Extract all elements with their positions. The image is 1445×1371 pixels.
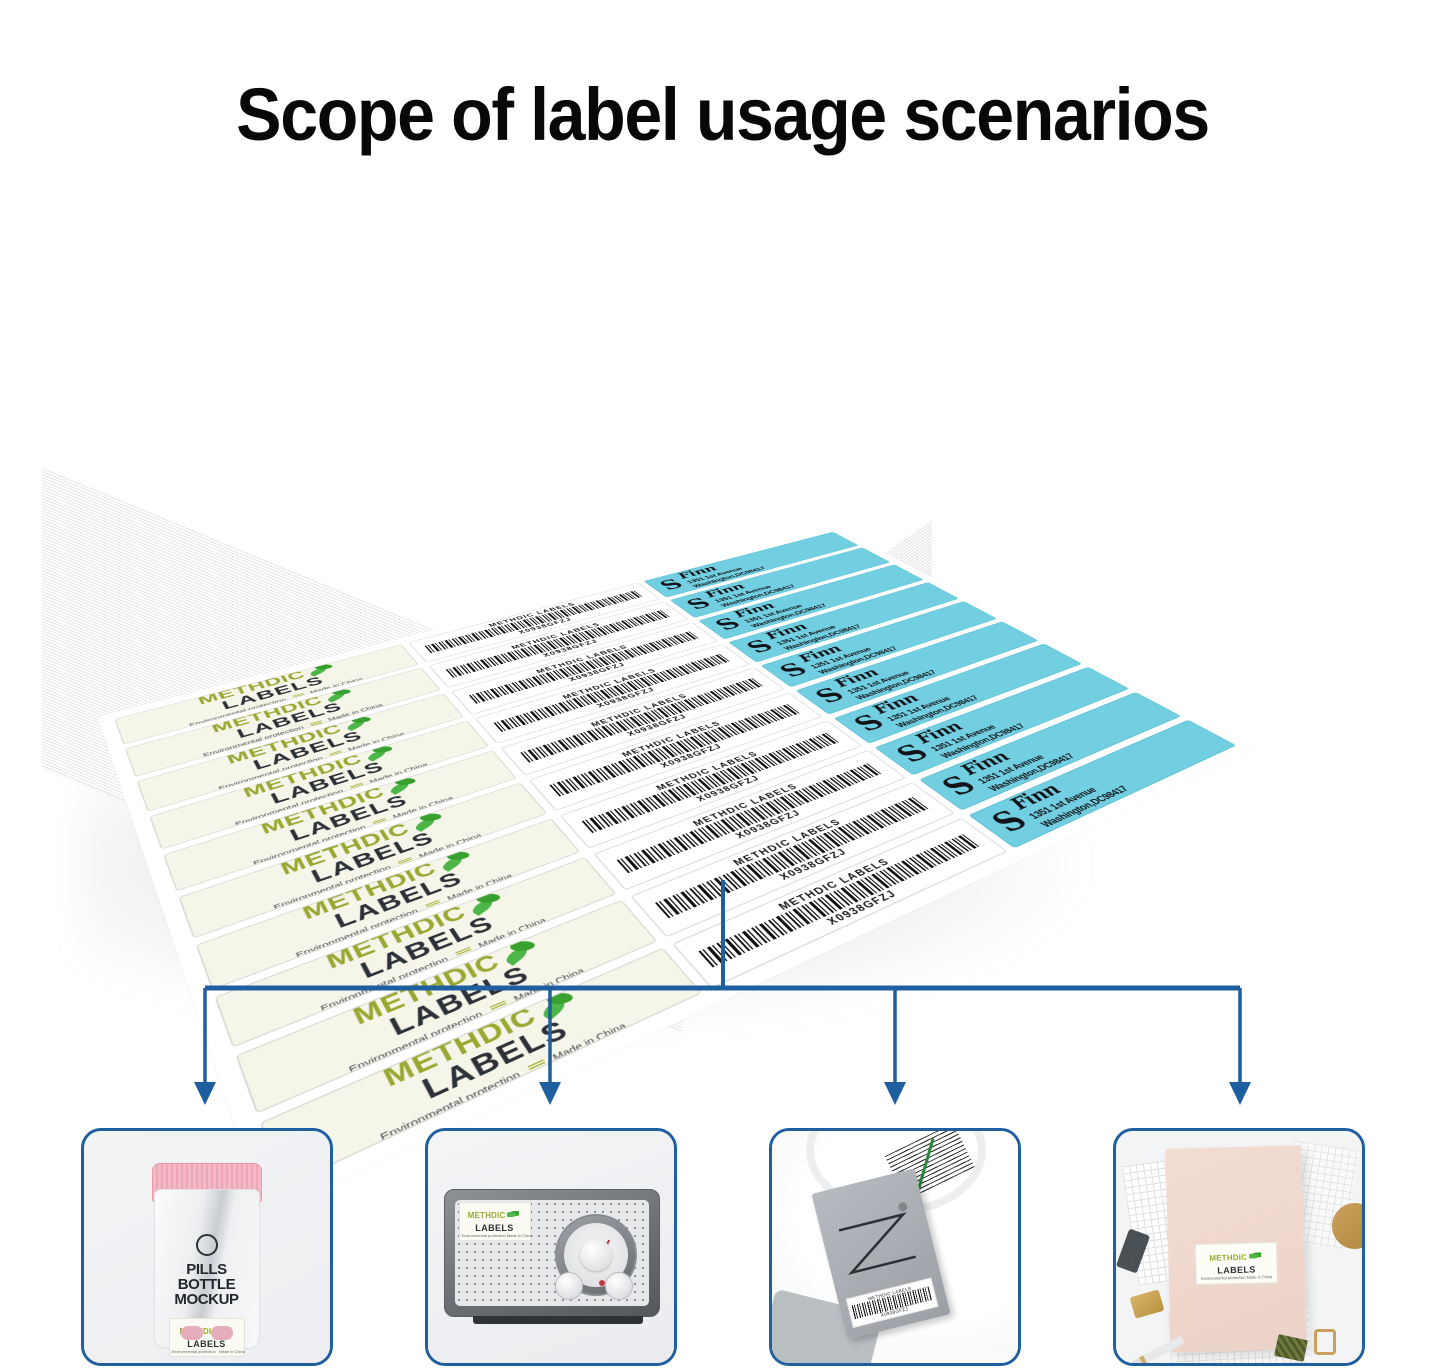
pills-inside — [164, 1326, 250, 1342]
radio-power-led-icon — [599, 1280, 605, 1286]
arrowhead-2 — [539, 1082, 561, 1105]
bottle-text-line3: MOCKUP — [174, 1292, 238, 1307]
sticker-brand-primary: METHDIC — [468, 1211, 506, 1220]
bottle-mockup-text: PILLS BOTTLE MOCKUP — [174, 1262, 238, 1307]
notebook-methdic-sticker: METHDIC LABELS Environmental protection … — [1194, 1242, 1277, 1285]
vintage-radio-image: METHDIC LABELS Environmental protection … — [428, 1131, 674, 1363]
page-title: Scope of label usage scenarios — [58, 72, 1387, 157]
radio-knob-tone[interactable] — [605, 1272, 633, 1300]
radio-dial-knob[interactable] — [580, 1239, 612, 1271]
connector-arrowheads — [194, 1082, 1251, 1105]
sticker-tagline-right: Made in China — [219, 1349, 245, 1354]
notebook-cover: METHDIC LABELS Environmental protection … — [1165, 1145, 1306, 1352]
sticker-tagline-right: Made in China — [1246, 1274, 1272, 1280]
notebook-image: METHDIC LABELS Environmental protection … — [1116, 1131, 1362, 1363]
eco-separator-icon — [329, 750, 343, 756]
pencil-sharpener-icon — [1129, 1289, 1164, 1318]
bottle-logo-mark-icon — [196, 1234, 218, 1256]
eco-separator-icon — [292, 693, 305, 698]
connector-svg — [0, 860, 1445, 1130]
arrowhead-4 — [1229, 1082, 1251, 1105]
scenario-boxes: PILLS BOTTLE MOCKUP METHDIC LABELS Envir… — [0, 1128, 1445, 1368]
clothing-hang-tag-image: METHDIC LABELS X0938GFZJ — [772, 1131, 1018, 1363]
leaf-icon — [507, 1211, 519, 1217]
sticker-brand-secondary: LABELS — [462, 1223, 528, 1233]
bottle-text-line1: PILLS — [174, 1262, 238, 1277]
scenario-box-notebook[interactable]: METHDIC LABELS Environmental protection … — [1113, 1128, 1365, 1366]
radio-knob-volume[interactable] — [555, 1272, 583, 1300]
sticker-tagline-left: Environmental protection — [172, 1349, 216, 1354]
label-sheet-stack: METHDICLABELSEnvironmental protectionMad… — [0, 230, 1445, 890]
radio-case: METHDIC LABELS Environmental protection … — [444, 1189, 660, 1317]
infographic-page: Scope of label usage scenarios METHDICLA… — [0, 0, 1445, 1371]
arrowhead-1 — [194, 1082, 216, 1105]
bottle-text-line2: BOTTLE — [174, 1277, 238, 1292]
eco-separator-icon — [309, 721, 322, 727]
scenario-box-clothing-hang-tag[interactable]: METHDIC LABELS X0938GFZJ — [769, 1128, 1021, 1366]
scenario-box-vintage-radio[interactable]: METHDIC LABELS Environmental protection … — [425, 1128, 677, 1366]
radio-methdic-sticker: METHDIC LABELS Environmental protection … — [459, 1202, 531, 1241]
paper-block: METHDICLABELSEnvironmental protectionMad… — [0, 230, 1445, 890]
radio-base — [473, 1316, 643, 1324]
sticker-tagline-left: Environmental protection — [462, 1233, 506, 1238]
sticker-tagline-left: Environmental protection — [1201, 1275, 1245, 1281]
bottle-body: PILLS BOTTLE MOCKUP METHDIC LABELS Envir… — [154, 1189, 260, 1349]
pills-bottle-image: PILLS BOTTLE MOCKUP METHDIC LABELS Envir… — [84, 1131, 330, 1363]
connector-tree — [0, 860, 1445, 1130]
paper-clip-icon — [1314, 1329, 1336, 1355]
eco-separator-icon — [372, 818, 387, 826]
arrowhead-3 — [884, 1082, 906, 1105]
sticker-brand-primary: METHDIC — [1209, 1253, 1247, 1263]
sticker-tagline-right: Made in China — [507, 1233, 533, 1238]
eco-separator-icon — [349, 783, 363, 790]
leaf-icon — [1249, 1252, 1261, 1258]
scenario-box-pills-bottle[interactable]: PILLS BOTTLE MOCKUP METHDIC LABELS Envir… — [81, 1128, 333, 1366]
